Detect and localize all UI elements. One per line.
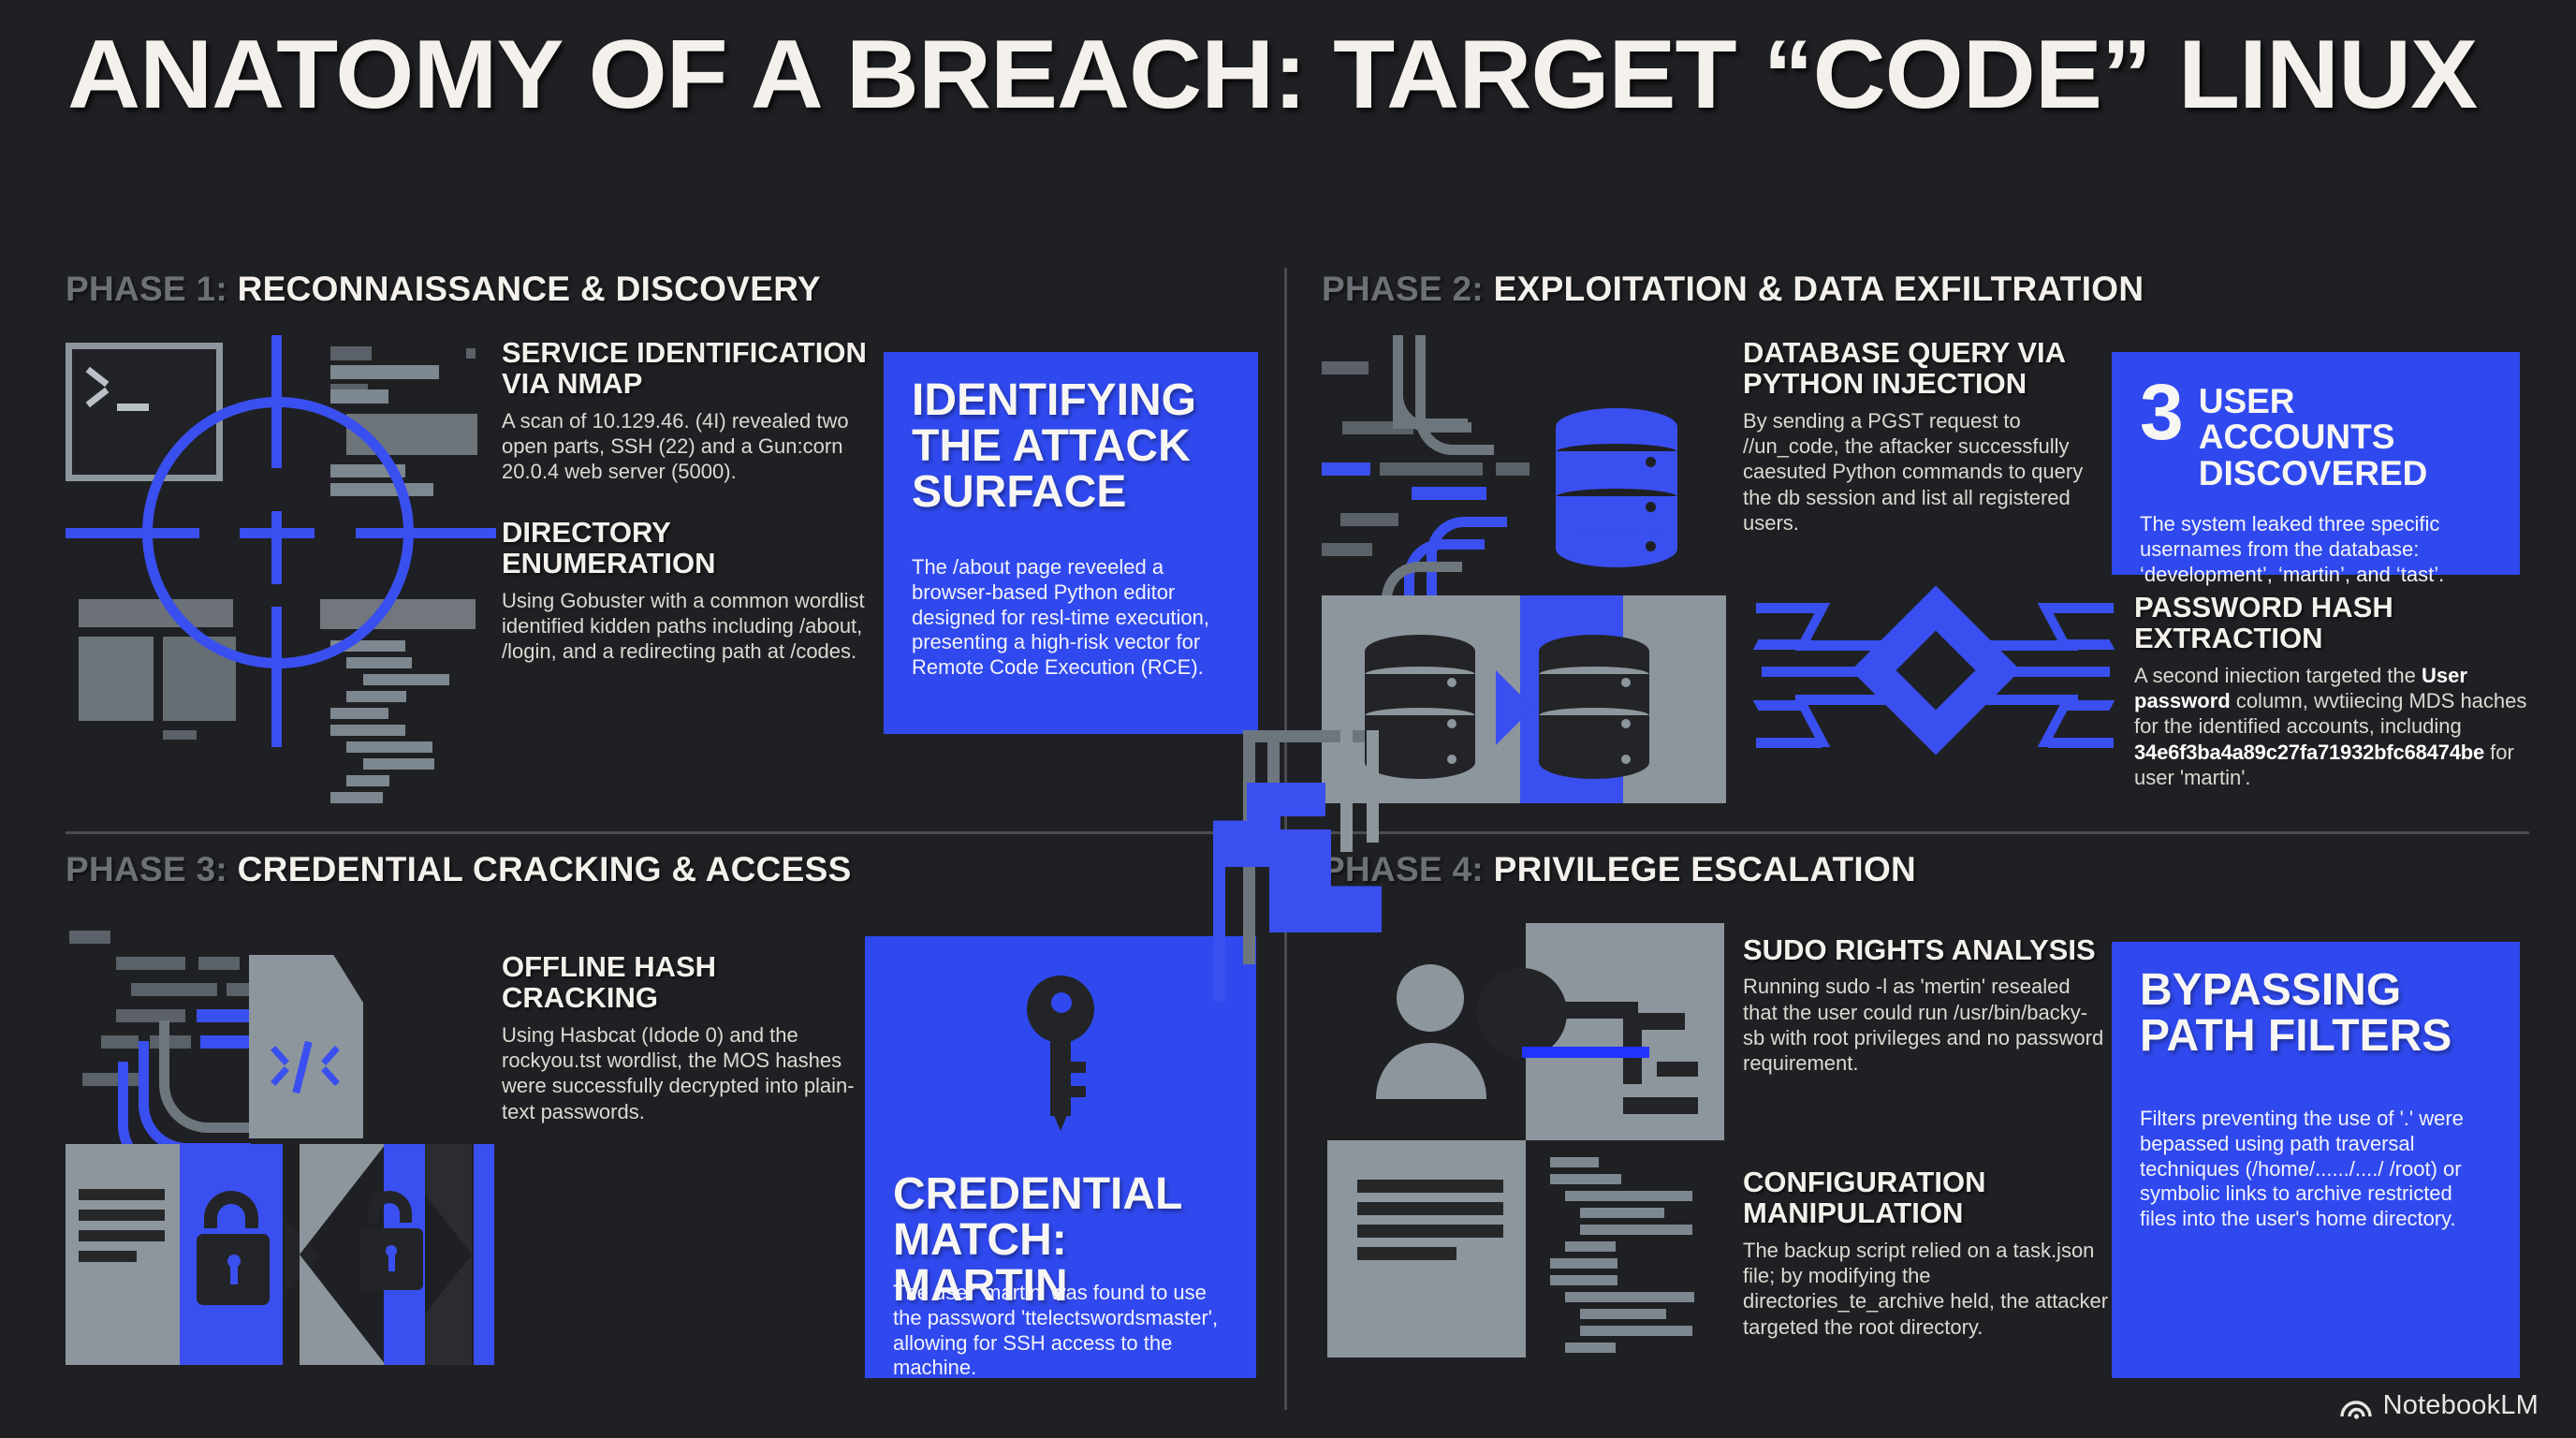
phase-2-section-2: PASSWORD HASH EXTRACTION A second iniect… <box>2134 592 2527 790</box>
feature-card-bypassing-body: Filters preventing the use of '.' were b… <box>2140 1107 2492 1232</box>
notebooklm-label: NotebookLM <box>2383 1390 2539 1421</box>
section-title-password-hash: PASSWORD HASH EXTRACTION <box>2134 592 2527 654</box>
feature-card-credential-match-body: The user 'martin' was found to use the p… <box>893 1281 1239 1381</box>
divider-horizontal-right <box>1322 831 2529 834</box>
phase-1-name: RECONNAISSANCE & DISCOVERY <box>238 270 821 308</box>
section-title-service-identification: SERVICE IDENTIFICATION VIA NMAP <box>502 337 876 400</box>
phase-3-name: CREDENTIAL CRACKING & ACCESS <box>238 850 852 888</box>
center-connector-pipes <box>1157 730 1466 1002</box>
document-plate <box>1327 1140 1526 1357</box>
section-title-configuration-manipulation: CONFIGURATION MANIPULATION <box>1743 1167 2117 1229</box>
divider-horizontal-left <box>66 831 1282 834</box>
section-body-sudo-rights: Running sudo -l as 'mertin' resealed tha… <box>1743 974 2108 1076</box>
database-icon-blue <box>1556 408 1677 567</box>
section-title-directory-enumeration: DIRECTORY ENUMERATION <box>502 517 876 580</box>
section-body-directory-enumeration: Using Gobuster with a common wordlist id… <box>502 588 876 665</box>
lock-plates <box>66 1137 496 1365</box>
hash-body-p1: A second iniection targeted the <box>2134 664 2422 687</box>
feature-card-bypassing-title: BYPASSING PATH FILTERS <box>2140 968 2492 1060</box>
hash-value: 34e6f3ba4a89c27fa71932bfc68474be <box>2134 741 2484 764</box>
page-title: ANATOMY OF A BREACH: TARGET “CODE” LINUX <box>67 26 2576 124</box>
feature-card-credential-match[interactable]: CREDENTIAL MATCH: MARTIN The user 'marti… <box>865 936 1256 1378</box>
phase-3-sections: OFFLINE HASH CRACKING Using Hasbcat (Ido… <box>502 951 876 1124</box>
section-body-configuration-manipulation: The backup script relied on a task.json … <box>1743 1238 2117 1340</box>
footer-brand: NotebookLM <box>2340 1390 2539 1421</box>
phase-2-section-1: DATABASE QUERY VIA PYTHON INJECTION By s… <box>1743 337 2108 536</box>
phase-3-header: PHASE 3: CREDENTIAL CRACKING & ACCESS <box>66 850 852 889</box>
feature-card-attack-surface-title: IDENTIFYING THE ATTACK SURFACE <box>912 378 1230 516</box>
feature-card-attack-surface-body: The /about page reveeled a browser-based… <box>912 555 1230 681</box>
cracking-illustration <box>66 916 496 1384</box>
notebooklm-logo-icon <box>2340 1393 2372 1419</box>
phase-1-sections: SERVICE IDENTIFICATION VIA NMAP A scan o… <box>502 337 876 664</box>
section-title-sudo-rights: SUDO RIGHTS ANALYSIS <box>1743 934 2108 965</box>
network-node-diamond-icon <box>1754 601 2110 788</box>
phase-3-number: PHASE 3: <box>66 850 227 888</box>
section-body-database-query: By sending a PGST request to //un_code, … <box>1743 408 2108 536</box>
stat-card-label: USER ACCOUNTS DISCOVERED <box>2199 378 2492 492</box>
feature-card-bypassing-path-filters[interactable]: BYPASSING PATH FILTERS Filters preventin… <box>2112 942 2520 1378</box>
key-icon <box>1019 976 1102 1133</box>
phase-1-number: PHASE 1: <box>66 270 227 308</box>
phase-2-header: PHASE 2: EXPLOITATION & DATA EXFILTRATIO… <box>1322 270 2144 309</box>
section-body-offline-hash-cracking: Using Hasbcat (Idode 0) and the rockyou.… <box>502 1022 876 1124</box>
phase-1-header: PHASE 1: RECONNAISSANCE & DISCOVERY <box>66 270 821 309</box>
section-title-database-query: DATABASE QUERY VIA PYTHON INJECTION <box>1743 337 2108 400</box>
section-body-password-hash: A second iniection targeted the User pas… <box>2134 663 2527 790</box>
section-title-offline-hash-cracking: OFFLINE HASH CRACKING <box>502 951 876 1014</box>
stat-card-number: 3 <box>2140 378 2184 448</box>
code-file-icon <box>249 955 363 1138</box>
section-body-service-identification: A scan of 10.129.46. (4I) revealed two o… <box>502 408 876 485</box>
admin-panel-plate <box>1526 923 1724 1140</box>
phase-4-section-1: SUDO RIGHTS ANALYSIS Running sudo -l as … <box>1743 934 2108 1077</box>
feature-card-attack-surface[interactable]: IDENTIFYING THE ATTACK SURFACE The /abou… <box>884 352 1258 734</box>
phase-2-number: PHASE 2: <box>1322 270 1484 308</box>
stat-card-user-accounts[interactable]: 3 USER ACCOUNTS DISCOVERED The system le… <box>2112 352 2520 575</box>
stat-card-body: The system leaked three specific usernam… <box>2140 512 2492 587</box>
phase-2-name: EXPLOITATION & DATA EXFILTRATION <box>1494 270 2144 308</box>
phase-4-name: PRIVILEGE ESCALATION <box>1494 850 1916 888</box>
recon-illustration <box>66 335 496 803</box>
phase-4-section-2: CONFIGURATION MANIPULATION The backup sc… <box>1743 1167 2117 1340</box>
